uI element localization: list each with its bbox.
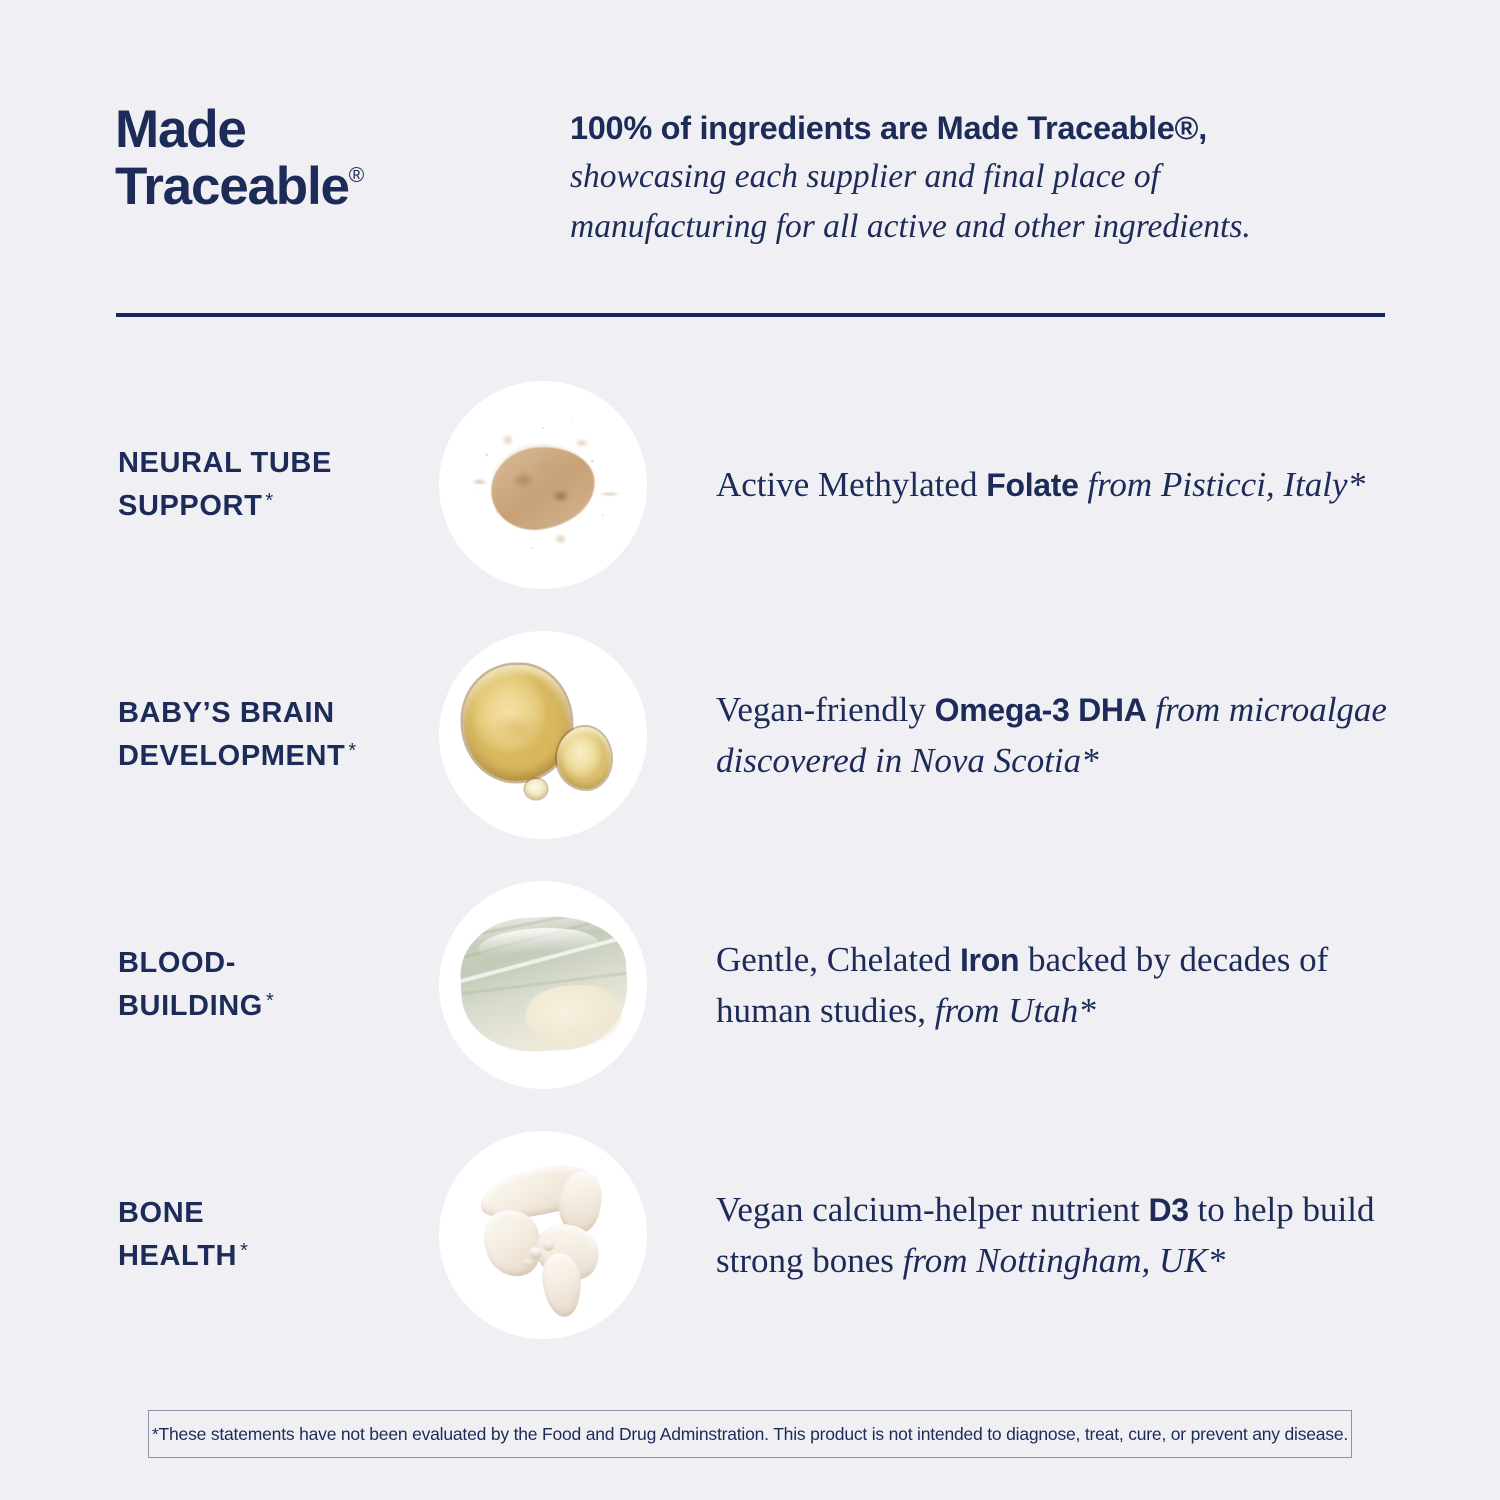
cream-droplet xyxy=(523,1259,532,1267)
benefit-image-slot xyxy=(438,631,648,839)
ingredient-name: Folate xyxy=(986,467,1078,503)
cream-swatch-shape xyxy=(458,913,631,1056)
asterisk-icon: * xyxy=(240,1240,248,1262)
brand-line-1: Made xyxy=(115,100,246,159)
description-mid xyxy=(1147,690,1156,729)
registered-mark-icon: ® xyxy=(349,164,364,187)
oil-droplet-large xyxy=(463,665,571,781)
disclaimer-text: *These statements have not been evaluate… xyxy=(152,1424,1348,1445)
benefit-label-line-2: HEALTH xyxy=(118,1240,237,1272)
benefit-label-line-1: BABY’S BRAIN xyxy=(118,697,335,729)
ingredient-origin: from Utah* xyxy=(935,991,1096,1030)
disclaimer-box: *These statements have not been evaluate… xyxy=(148,1410,1352,1458)
benefit-description: Vegan-friendly Omega-3 DHA from microalg… xyxy=(716,684,1500,786)
header-copy: 100% of ingredients are Made Traceable®,… xyxy=(570,95,1390,250)
header-lead-text: 100% of ingredients are Made Traceable xyxy=(570,110,1175,146)
cream-droplet xyxy=(529,1247,542,1259)
benefit-label-line-2: SUPPORT xyxy=(118,490,262,522)
ingredient-name: D3 xyxy=(1148,1192,1188,1228)
benefit-row: BLOOD- BUILDING* Gentle, Chelated Iron b… xyxy=(0,860,1500,1110)
benefit-image-slot xyxy=(438,881,648,1089)
benefit-description: Vegan calcium-helper nutrient D3 to help… xyxy=(716,1184,1500,1286)
header-italic-line-2: manufacturing for all active and other i… xyxy=(570,203,1390,251)
benefit-row: BONE HEALTH* xyxy=(0,1110,1500,1360)
made-traceable-infographic: Made Traceable® 100% of ingredients are … xyxy=(0,0,1500,1500)
sage-cream-swatch-image xyxy=(439,881,647,1089)
cream-droplet xyxy=(543,1241,554,1251)
benefit-label: BLOOD- BUILDING* xyxy=(118,942,438,1028)
header-italic-line-1: showcasing each supplier and final place… xyxy=(570,153,1390,201)
benefit-label: BONE HEALTH* xyxy=(118,1192,438,1278)
ingredient-origin: from Nottingham, UK* xyxy=(903,1241,1226,1280)
description-lead: Vegan calcium-helper nutrient xyxy=(716,1190,1148,1229)
benefit-row: NEURAL TUBE SUPPORT* Active Methylated F… xyxy=(0,360,1500,610)
benefit-rows: NEURAL TUBE SUPPORT* Active Methylated F… xyxy=(0,360,1500,1360)
oil-droplet-medium xyxy=(557,727,611,789)
header: Made Traceable® 100% of ingredients are … xyxy=(115,95,1390,250)
asterisk-icon: * xyxy=(265,490,273,512)
benefit-row: BABY’S BRAIN DEVELOPMENT* Vegan-friendly… xyxy=(0,610,1500,860)
header-divider-rule xyxy=(116,313,1385,317)
ingredient-name: Iron xyxy=(960,942,1019,978)
ingredient-origin: from Pisticci, Italy* xyxy=(1087,465,1365,504)
benefit-description: Active Methylated Folate from Pisticci, … xyxy=(716,459,1500,510)
cream-drip-image xyxy=(439,1131,647,1339)
benefit-label-line-2: BUILDING xyxy=(118,990,263,1022)
benefit-image-slot xyxy=(438,381,648,589)
cream-drip-shape xyxy=(439,1131,647,1339)
oil-droplet-small xyxy=(525,779,547,799)
oil-droplets-image xyxy=(439,631,647,839)
description-lead: Vegan-friendly xyxy=(716,690,935,729)
benefit-label-line-2: DEVELOPMENT xyxy=(118,740,345,772)
benefit-description: Gentle, Chelated Iron backed by decades … xyxy=(716,934,1500,1036)
asterisk-icon: * xyxy=(266,990,274,1012)
header-lead-tail: , xyxy=(1198,110,1207,146)
benefit-label: NEURAL TUBE SUPPORT* xyxy=(118,442,438,528)
description-lead: Active Methylated xyxy=(716,465,986,504)
brand-line-2: Traceable xyxy=(115,157,349,216)
asterisk-icon: * xyxy=(348,740,356,762)
benefit-label-line-1: NEURAL TUBE xyxy=(118,447,332,479)
ingredient-name: Omega-3 DHA xyxy=(935,692,1147,728)
benefit-label-line-1: BONE xyxy=(118,1197,204,1229)
benefit-label: BABY’S BRAIN DEVELOPMENT* xyxy=(118,692,438,778)
benefit-image-slot xyxy=(438,1131,648,1339)
benefit-label-line-1: BLOOD- xyxy=(118,947,236,979)
powder-splatter-shape xyxy=(455,410,631,560)
powder-splatter-image xyxy=(439,381,647,589)
registered-mark-icon: ® xyxy=(1175,110,1199,146)
brand-lockup: Made Traceable® xyxy=(115,95,570,215)
description-lead: Gentle, Chelated xyxy=(716,940,960,979)
